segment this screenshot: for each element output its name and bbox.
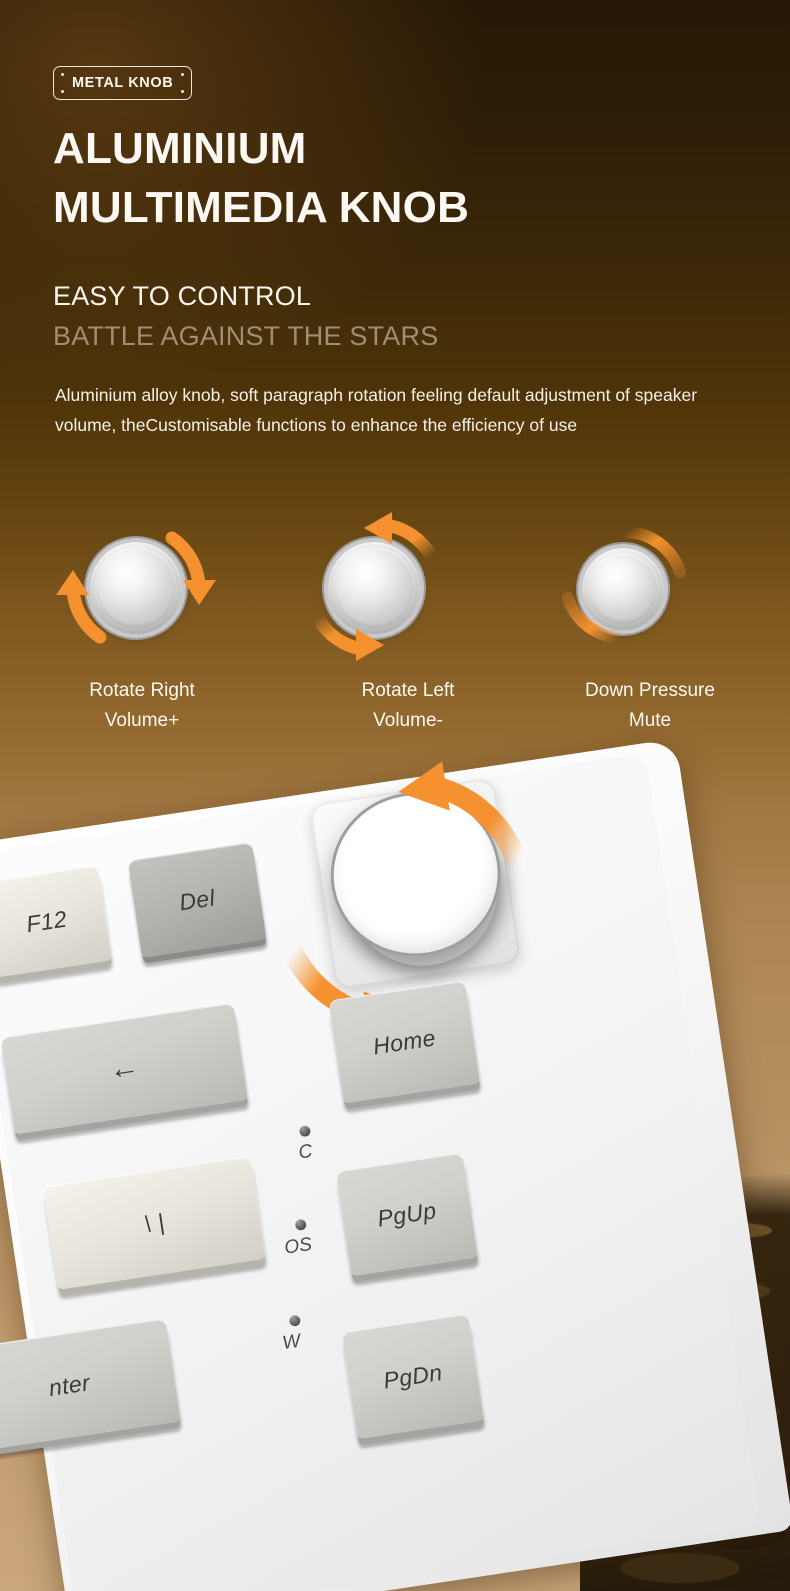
- led-win-label: W: [281, 1331, 302, 1355]
- feature-label: Rotate Right Volume+: [22, 676, 262, 736]
- feature-label: Rotate Left Volume-: [288, 676, 528, 736]
- feature-result: Volume-: [288, 706, 528, 736]
- description-paragraph: Aluminium alloy knob, soft paragraph rot…: [55, 380, 705, 440]
- knob-illustration: [288, 500, 528, 670]
- subtitle-secondary: BATTLE AGAINST THE STARS: [53, 321, 438, 352]
- badge-corner-dot: [181, 73, 184, 76]
- title-line-1: ALUMINIUM: [53, 124, 307, 173]
- title-line-2: MULTIMEDIA KNOB: [53, 179, 753, 238]
- feature-action: Down Pressure: [530, 676, 770, 706]
- key-pgdn[interactable]: PgDn: [342, 1313, 485, 1439]
- badge-corner-dot: [61, 90, 64, 93]
- metal-knob-graphic: [328, 542, 420, 634]
- led-caps-label: C: [297, 1141, 314, 1165]
- badge-corner-dot: [181, 90, 184, 93]
- key-pgup[interactable]: PgUp: [336, 1153, 478, 1277]
- metal-knob-badge: METAL KNOB: [53, 66, 192, 100]
- keyboard-product-photo: F12 Del: [0, 712, 790, 1591]
- key-del[interactable]: Del: [128, 842, 267, 958]
- led-os-label: OS: [283, 1234, 313, 1260]
- knob-illustration: [530, 500, 770, 670]
- key-home[interactable]: Home: [328, 980, 480, 1103]
- metal-knob-graphic: [582, 548, 664, 630]
- poster-background: METAL KNOB ALUMINIUM MULTIMEDIA KNOB EAS…: [0, 0, 790, 1591]
- key-f12[interactable]: F12: [0, 865, 112, 977]
- feature-action: Rotate Left: [288, 676, 528, 706]
- feature-rotate-right: Rotate Right Volume+: [22, 500, 262, 760]
- badge-corner-dot: [61, 73, 64, 76]
- subtitle-primary: EASY TO CONTROL: [53, 281, 311, 312]
- page-title: ALUMINIUM MULTIMEDIA KNOB: [53, 120, 753, 237]
- knob-illustration: [22, 500, 262, 670]
- metal-knob-graphic: [90, 542, 182, 634]
- feature-result: Volume+: [22, 706, 262, 736]
- feature-rotate-left: Rotate Left Volume-: [288, 500, 528, 760]
- feature-action: Rotate Right: [22, 676, 262, 706]
- left-arrow-icon: ←: [107, 1051, 142, 1085]
- badge-label: METAL KNOB: [72, 75, 173, 91]
